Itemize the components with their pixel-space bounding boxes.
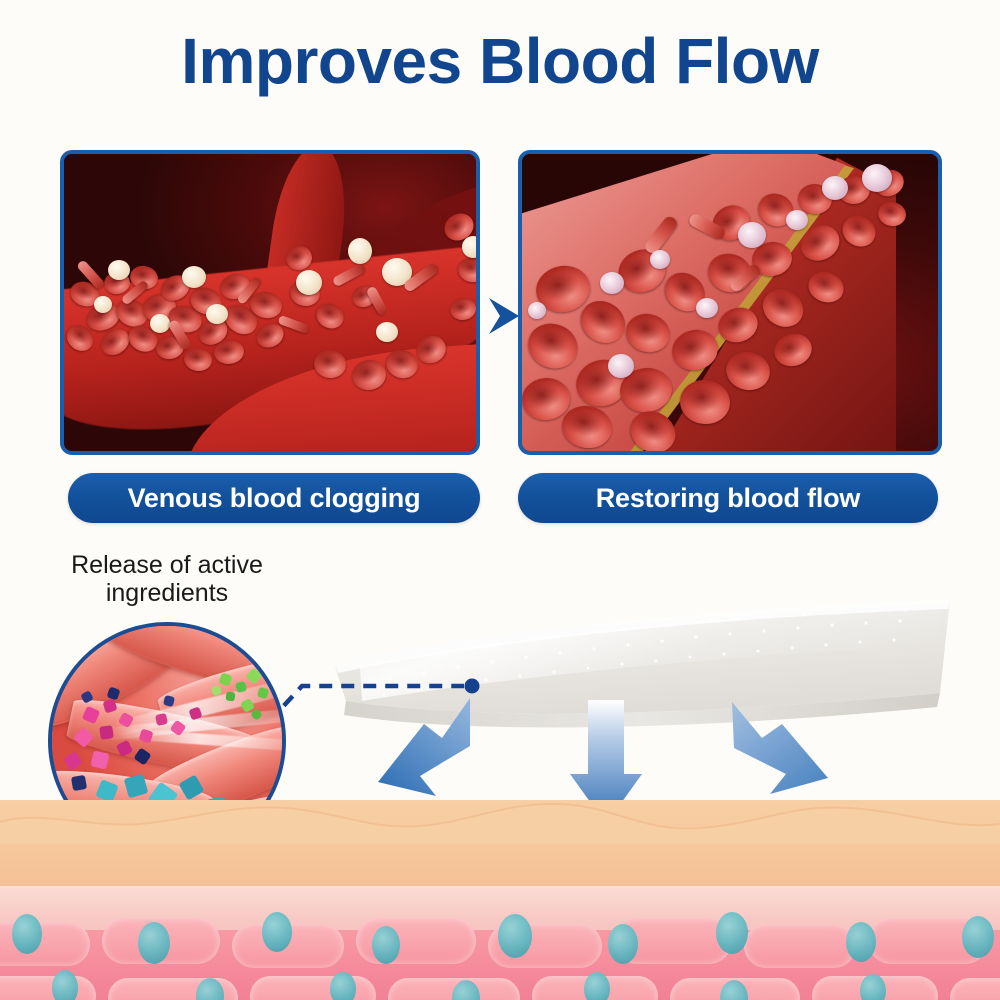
comparison-panel-before	[60, 150, 480, 455]
skin-cross-section	[0, 800, 1000, 1000]
arrow-down-right-icon	[732, 702, 828, 794]
skin-surface-contour	[0, 800, 1000, 844]
label-venous-blood-clogging[interactable]: Venous blood clogging	[68, 473, 480, 523]
release-caption-line2: ingredients	[48, 579, 286, 607]
label-restoring-blood-flow[interactable]: Restoring blood flow	[518, 473, 938, 523]
dermis-cell-row	[0, 908, 1000, 1000]
clogged-vessel-image	[64, 154, 476, 451]
release-caption: Release of active ingredients	[48, 551, 286, 607]
open-vessel-image	[522, 154, 938, 451]
poster-canvas: Improves Blood Flow	[0, 0, 1000, 1000]
release-caption-line1: Release of active	[48, 551, 286, 579]
page-title: Improves Blood Flow	[0, 24, 1000, 98]
comparison-panel-after	[518, 150, 942, 455]
chevron-right-icon	[487, 295, 521, 337]
